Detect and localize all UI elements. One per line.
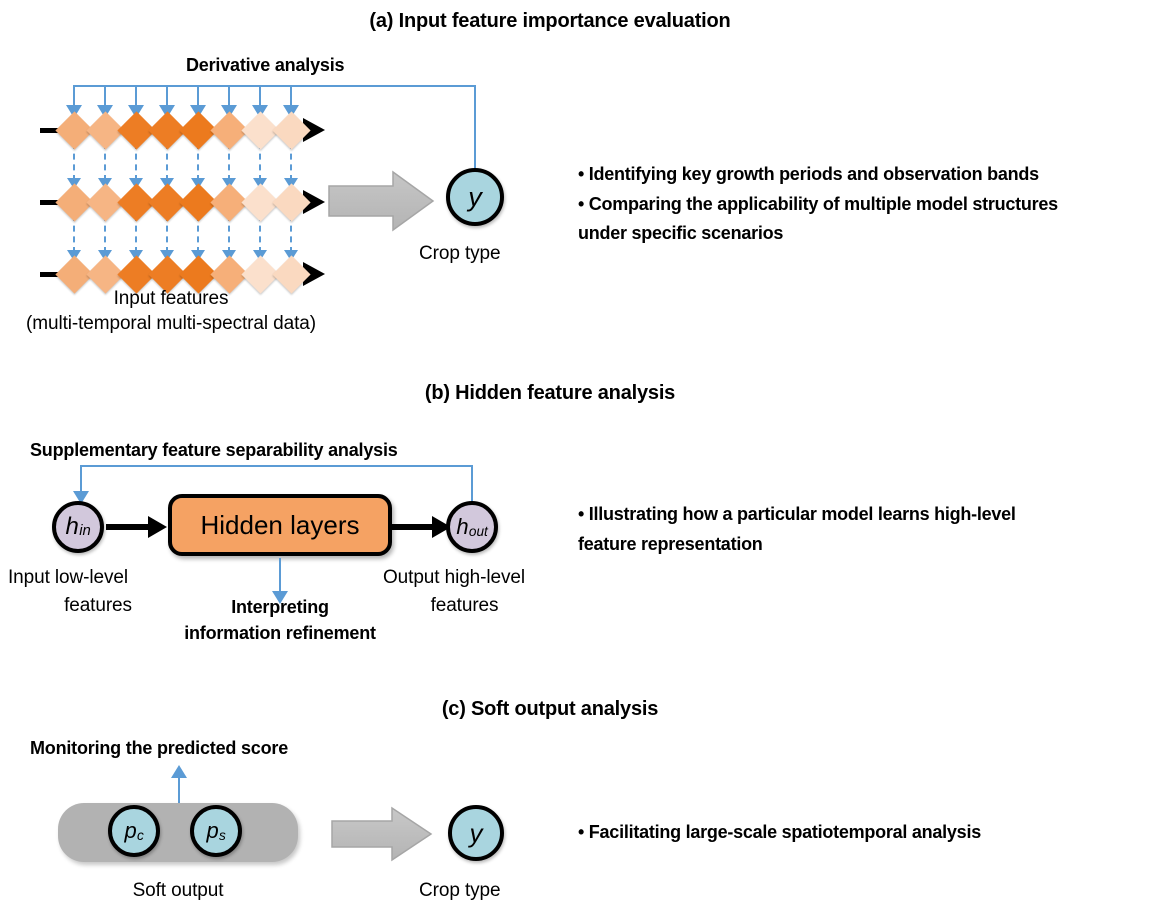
derivative-arrow-stem-4 [166, 85, 168, 107]
derivative-bracket-spine [73, 85, 476, 87]
node-h-out-symbol: h [456, 514, 468, 540]
node-p-c-symbol: p [124, 818, 136, 844]
derivative-analysis-label: Derivative analysis [186, 55, 344, 76]
supplementary-analysis-label: Supplementary feature separability analy… [30, 440, 398, 461]
derivative-bracket-right-leg [474, 85, 476, 170]
derivative-arrow-stem-2 [104, 85, 106, 107]
output-node-y-a-label: y [468, 182, 482, 213]
monitoring-score-label: Monitoring the predicted score [30, 738, 288, 759]
refinement-caption-line2: information refinement [130, 623, 430, 644]
derivative-arrow-stem-8 [290, 85, 292, 107]
node-p-s-symbol: p [206, 818, 218, 844]
hidden-layers-box: Hidden layers [168, 494, 392, 556]
supplementary-bracket-left-leg [80, 465, 82, 493]
output-node-y-a: y [446, 168, 504, 226]
flow-arrow-box-to-hout [392, 524, 434, 530]
crop-type-caption-c: Crop type [419, 880, 500, 902]
panel-c-title: (c) Soft output analysis [0, 698, 1100, 721]
soft-output-box [58, 803, 298, 862]
panel-b-bullet-1-cont: feature representation [578, 530, 1016, 560]
derivative-arrow-stem-1 [73, 85, 75, 107]
supplementary-bracket-right-leg [471, 465, 473, 505]
soft-output-caption: Soft output [58, 880, 298, 902]
input-features-caption-line2: (multi-temporal multi-spectral data) [0, 313, 342, 335]
derivative-arrow-stem-5 [197, 85, 199, 107]
node-h-in-subscript: in [79, 523, 91, 539]
node-h-in: hin [52, 501, 104, 553]
input-features-caption-line1: Input features [0, 288, 342, 310]
hidden-layers-label: Hidden layers [201, 510, 360, 541]
input-low-level-caption-line1: Input low-level [8, 567, 128, 589]
panel-b-title: (b) Hidden feature analysis [0, 382, 1100, 405]
refinement-arrow-stem [279, 558, 281, 594]
panel-b-bullets: • Illustrating how a particular model le… [578, 500, 1016, 559]
flow-block-arrow-a [327, 168, 437, 234]
panel-a-bullets: • Identifying key growth periods and obs… [578, 160, 1058, 249]
crop-type-caption-a: Crop type [419, 243, 500, 265]
node-p-c: pc [108, 805, 160, 857]
panel-a-title: (a) Input feature importance evaluation [0, 10, 1100, 33]
panel-a-bullet-1: • Identifying key growth periods and obs… [578, 160, 1058, 190]
flow-block-arrow-c [330, 805, 435, 863]
node-h-out: hout [446, 501, 498, 553]
panel-c-bullet-1: • Facilitating large-scale spatiotempora… [578, 818, 981, 848]
node-p-s-subscript: s [219, 828, 226, 843]
node-p-c-subscript: c [137, 828, 144, 843]
flow-arrow-hin-to-box-head [148, 516, 167, 538]
node-h-out-subscript: out [469, 524, 488, 539]
derivative-arrow-stem-7 [259, 85, 261, 107]
output-high-level-caption-line1: Output high-level [383, 567, 525, 589]
node-h-in-symbol: h [66, 513, 79, 541]
derivative-arrow-stem-6 [228, 85, 230, 107]
node-p-s: ps [190, 805, 242, 857]
flow-arrow-hin-to-box [106, 524, 150, 530]
output-node-y-c-label: y [470, 818, 483, 849]
panel-c-bullets: • Facilitating large-scale spatiotempora… [578, 818, 981, 848]
panel-a-bullet-2: • Comparing the applicability of multipl… [578, 190, 1058, 220]
refinement-caption-line1: Interpreting [130, 597, 430, 618]
output-node-y-c: y [448, 805, 504, 861]
panel-a-bullet-2-cont: under specific scenarios [578, 219, 1058, 249]
monitoring-arrow-head [171, 765, 187, 778]
derivative-arrow-stem-3 [135, 85, 137, 107]
panel-b-bullet-1: • Illustrating how a particular model le… [578, 500, 1016, 530]
supplementary-bracket-spine [80, 465, 473, 467]
